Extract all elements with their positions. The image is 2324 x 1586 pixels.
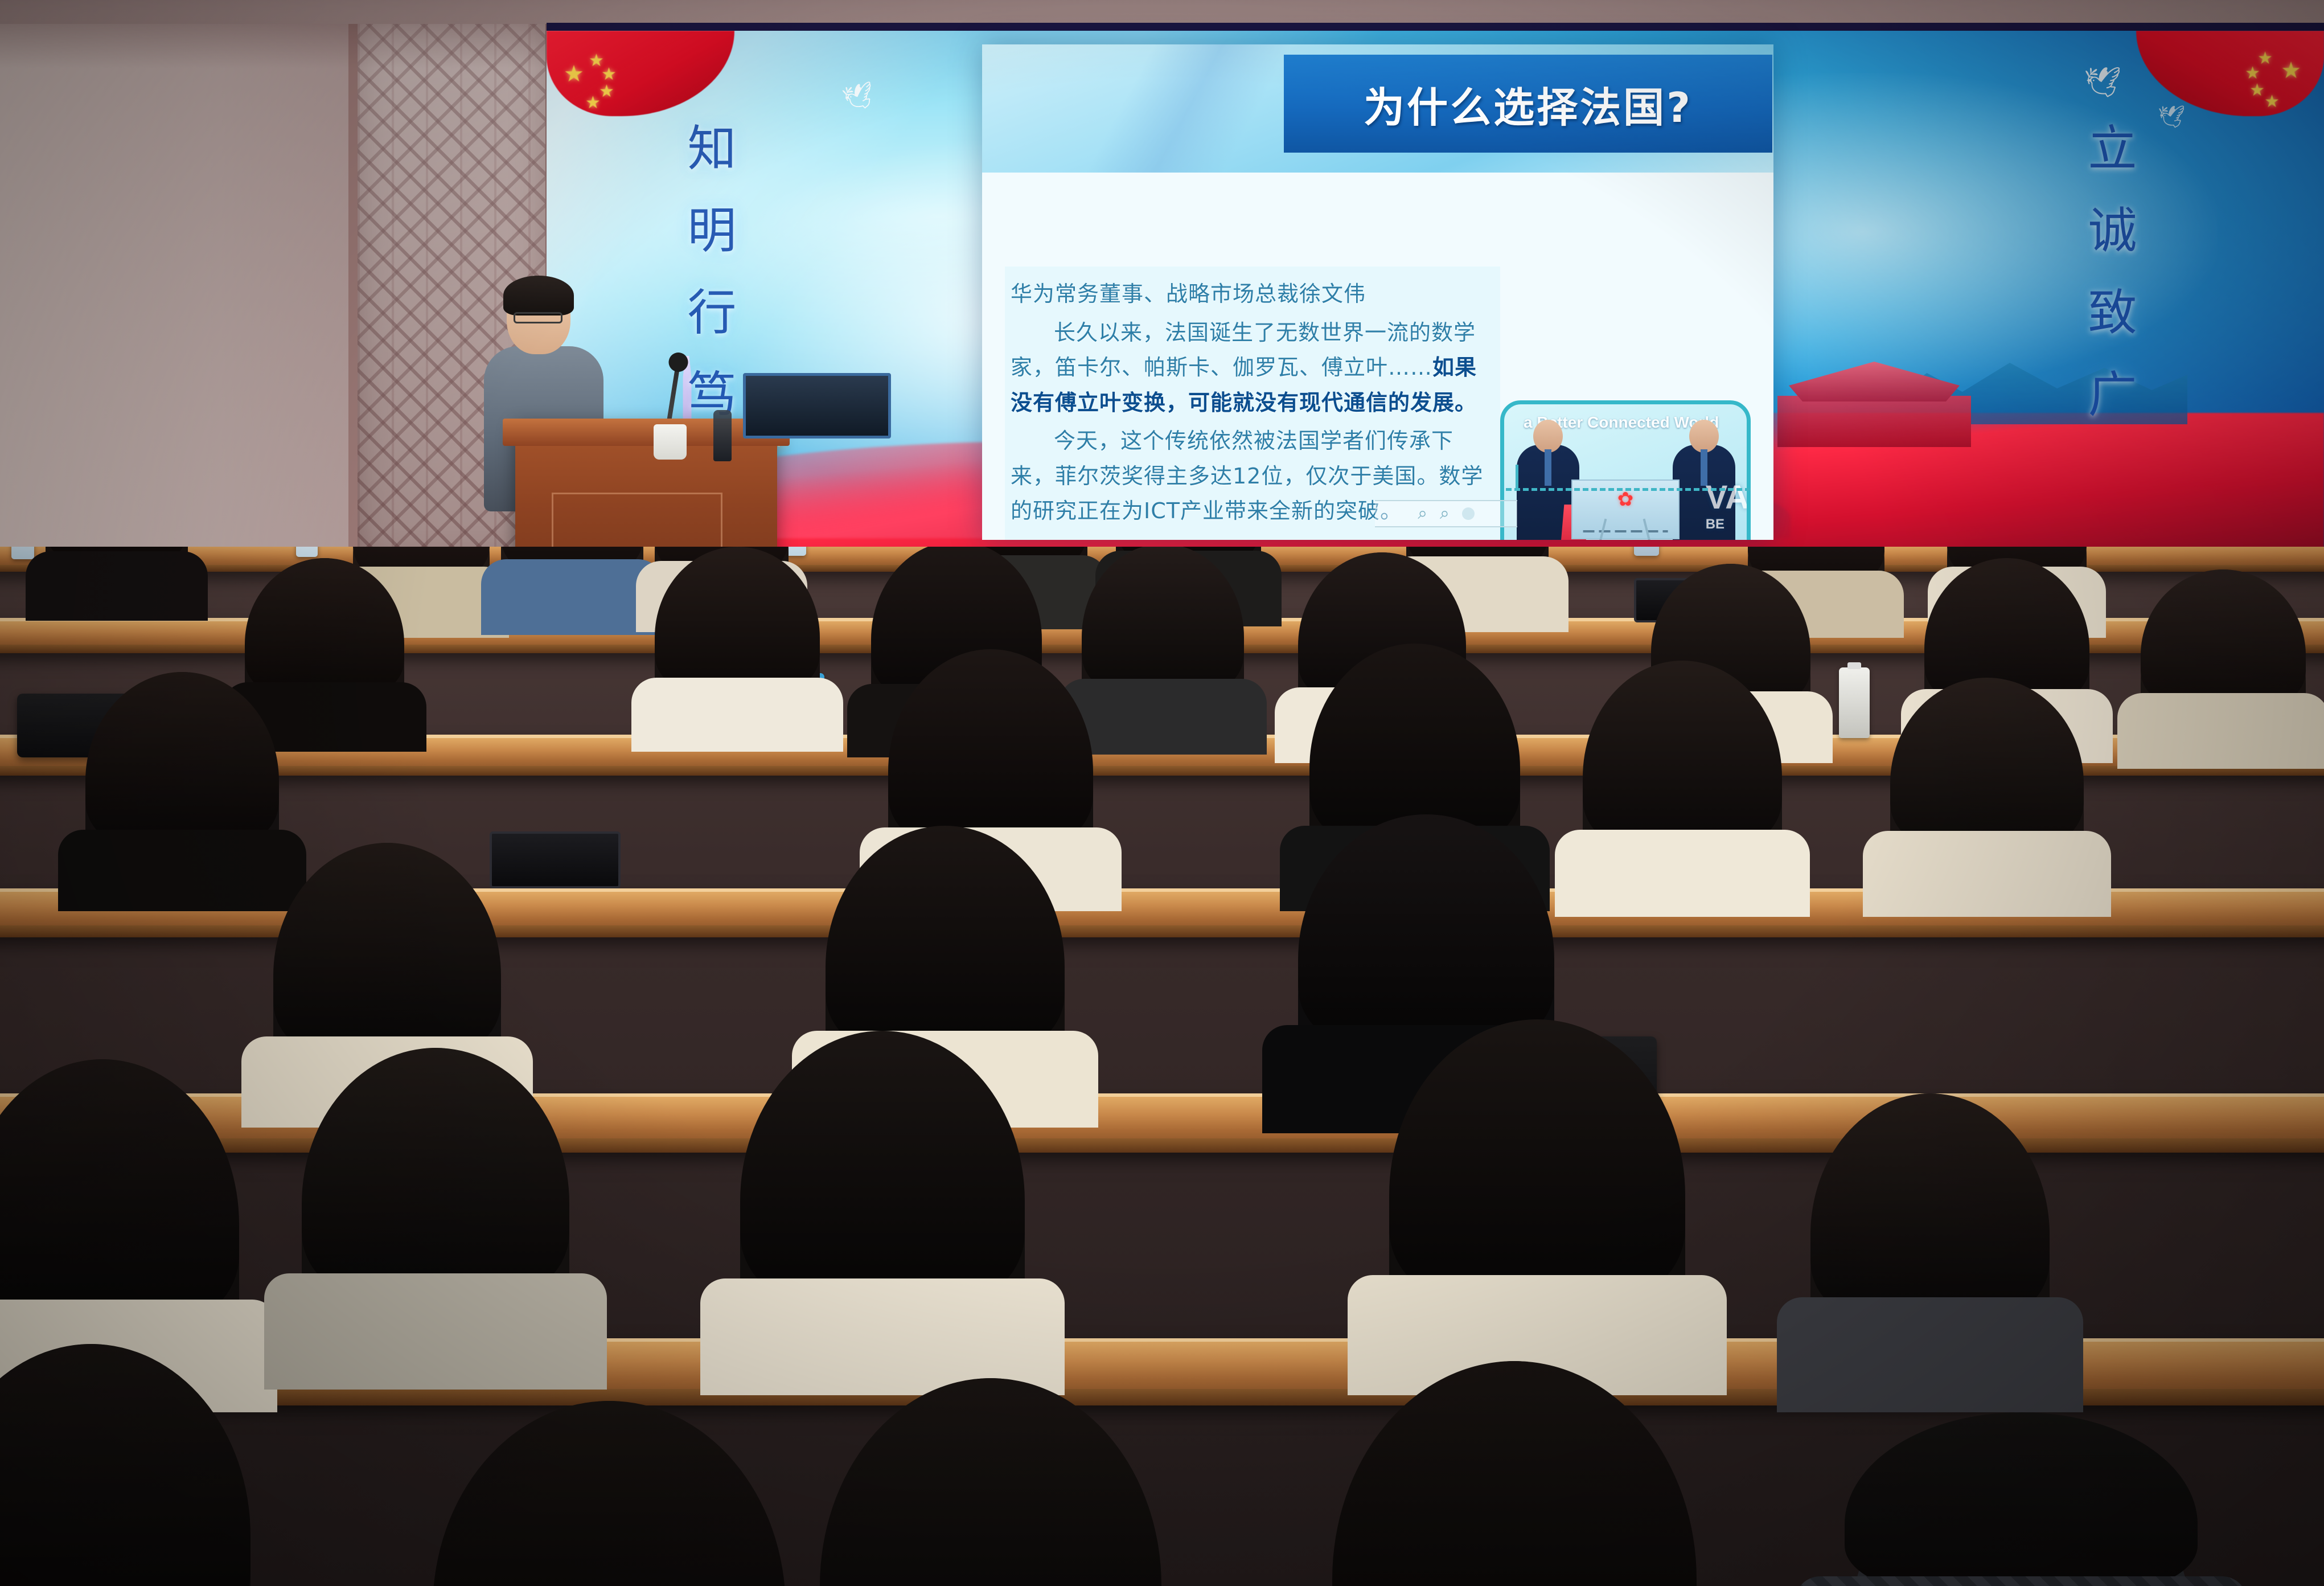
tiananmen-roof xyxy=(1789,362,1960,401)
callout-tick xyxy=(1516,465,1518,491)
water-bottle xyxy=(786,547,806,556)
flag-star: ★ xyxy=(564,63,584,85)
audience-member xyxy=(1845,1412,2198,1586)
audience-member xyxy=(655,547,820,752)
photo-person-head xyxy=(1689,420,1719,453)
flag-star: ★ xyxy=(601,66,617,83)
photo-person-head xyxy=(1533,420,1563,453)
audience-member xyxy=(1810,1093,2050,1412)
presentation-slide: 为什么选择法国? 华为常务董事、战略市场总裁徐文伟 长久以来，法国诞生了无数世界… xyxy=(982,44,1773,540)
document-viewer-toolbar[interactable]: ⌕ ⌕ xyxy=(1375,500,1517,527)
flag-star: ★ xyxy=(585,95,601,112)
slide-textbox: 华为常务董事、战略市场总裁徐文伟 长久以来，法国诞生了无数世界一流的数学家，笛卡… xyxy=(1005,267,1500,540)
flag-star: ★ xyxy=(2245,65,2260,82)
toolbar-indicator xyxy=(1462,507,1475,520)
audience-member xyxy=(501,547,643,635)
partner-logo-text: VA BE xyxy=(1706,478,1749,532)
wall-left-column xyxy=(0,0,364,569)
audience-member xyxy=(46,547,188,621)
partner-logo-main: VA xyxy=(1706,479,1749,516)
partner-logo-sub: BE xyxy=(1706,517,1749,532)
dove-icon: 🕊 xyxy=(2158,105,2185,130)
speaker-glasses xyxy=(514,312,562,323)
zoom-in-icon[interactable]: ⌕ xyxy=(1440,504,1450,523)
calligraphy-left: 知明行笃 xyxy=(672,122,743,450)
audience-member xyxy=(302,1048,569,1390)
flag-star: ★ xyxy=(2264,93,2280,110)
water-bottle xyxy=(11,547,34,559)
slide-paragraph-2-text: 长久以来，法国诞生了无数世界一流的数学家，笛卡尔、帕斯卡、伽罗瓦、傅立叶…… xyxy=(1011,320,1476,380)
dove-icon: 🕊 xyxy=(2084,65,2121,100)
tablet-device xyxy=(490,831,621,888)
slide-title: 为什么选择法国? xyxy=(1364,74,1693,134)
calligraphy-right: 立诚致广 xyxy=(2072,122,2144,450)
audience-member xyxy=(1583,661,1782,917)
flag-star: ★ xyxy=(2281,59,2301,82)
podium-water-bottle xyxy=(713,410,732,461)
thermos-bottle xyxy=(1839,667,1870,738)
audience-member xyxy=(433,1401,786,1586)
slide-photo-card: a Better Connected World ✿ xyxy=(1500,400,1751,540)
audience-member xyxy=(820,1378,1161,1586)
audience-member xyxy=(1082,547,1244,755)
huawei-flower-logo-icon: ✿ xyxy=(1617,490,1634,509)
audience-member xyxy=(740,1031,1025,1395)
presenter-laptop xyxy=(743,373,891,438)
flag-star: ★ xyxy=(599,83,614,100)
plaque-text-lines xyxy=(1583,530,1668,532)
flag-star: ★ xyxy=(2249,82,2265,99)
auditorium-seating: acn xyxy=(0,547,2324,1586)
audience-member xyxy=(245,558,404,752)
speaker-hair xyxy=(503,276,574,315)
audience-member xyxy=(2141,569,2306,769)
slide-paragraph-2: 长久以来，法国诞生了无数世界一流的数学家，笛卡尔、帕斯卡、伽罗瓦、傅立叶……如果… xyxy=(1011,315,1494,421)
slide-paragraph-1: 华为常务董事、战略市场总裁徐文伟 xyxy=(1011,277,1494,312)
audience-member xyxy=(1389,1019,1685,1395)
slide-title-bar: 为什么选择法国? xyxy=(1284,55,1772,153)
thermos-bottle xyxy=(1634,547,1659,556)
tiananmen-base xyxy=(1777,396,1971,447)
audience-member xyxy=(1890,678,2084,917)
zoom-out-icon[interactable]: ⌕ xyxy=(1418,504,1427,523)
paper-cup xyxy=(654,424,687,460)
photo-person-tie xyxy=(1545,449,1551,486)
slide-body: 华为常务董事、战略市场总裁徐文伟 长久以来，法国诞生了无数世界一流的数学家，笛卡… xyxy=(982,173,1773,540)
water-bottle xyxy=(296,547,318,557)
lecture-hall-photo: ★ ★ ★ ★ ★ ★ ★ ★ ★ ★ 🕊 🕊 🕊 ☭ 知明行笃 立诚致广 xyxy=(0,0,2324,1586)
audience-member xyxy=(85,672,279,911)
callout-dashed-line xyxy=(1506,488,1751,491)
